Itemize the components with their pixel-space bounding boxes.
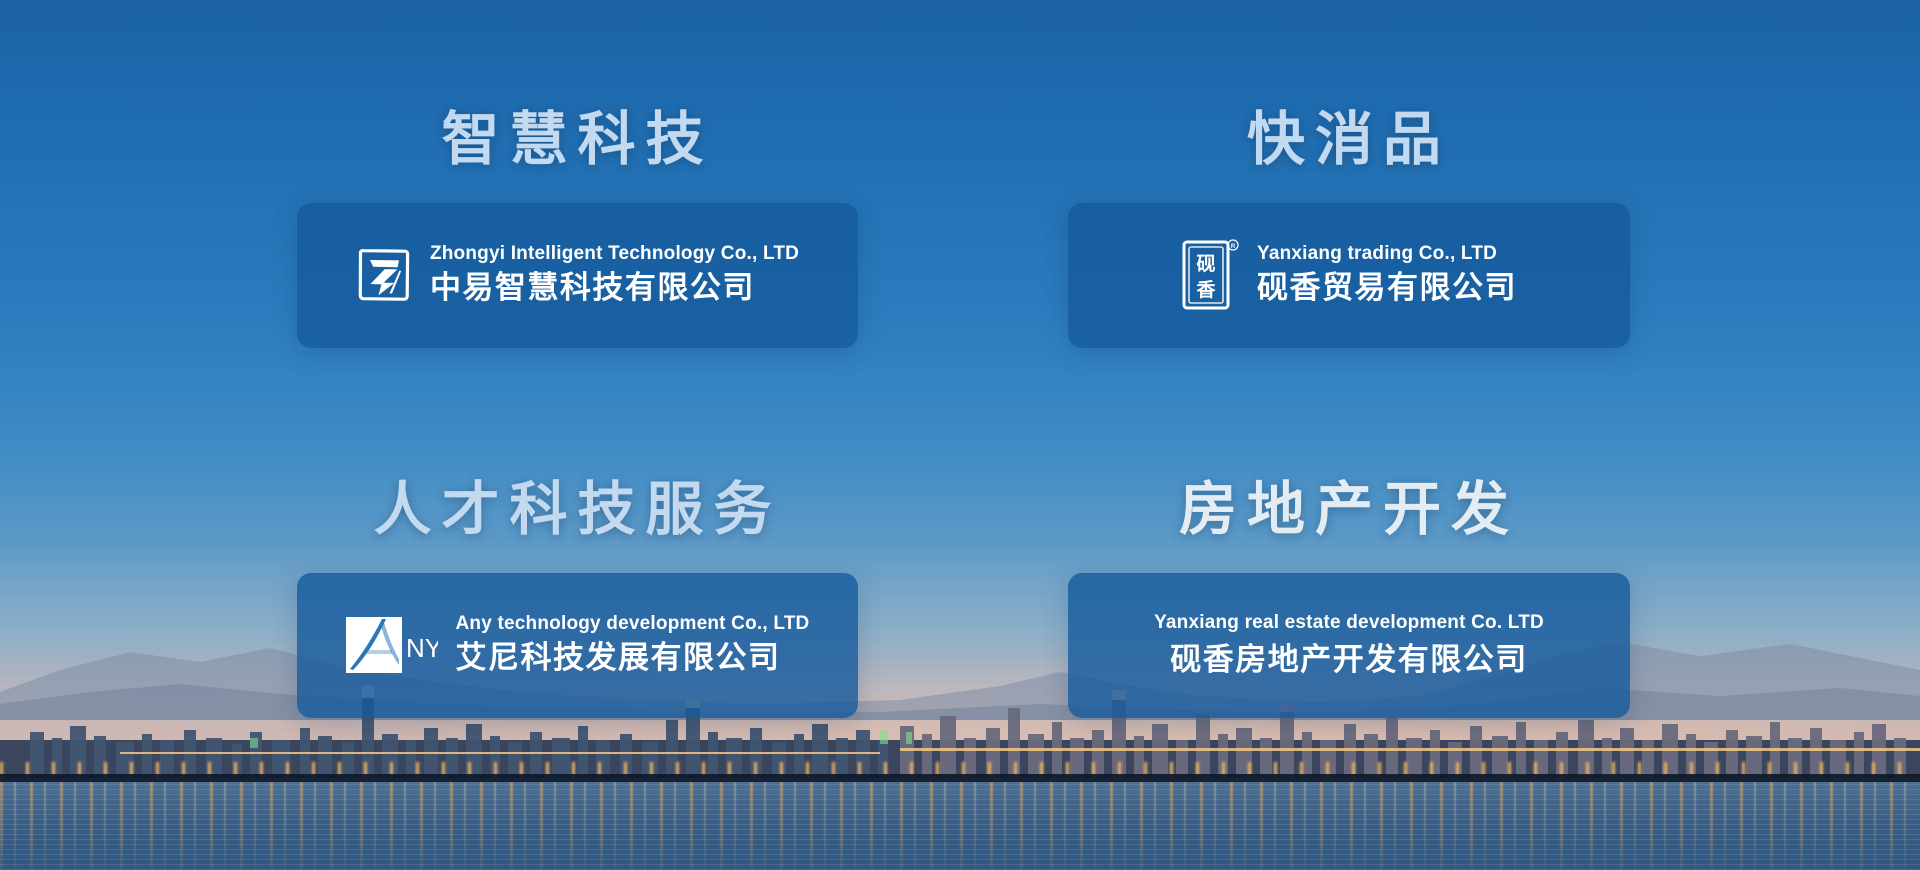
company-card-yanxiang-trading[interactable]: 砚 香 R Yanxiang trading Co., LTD 砚香贸易有限公司 [1068,203,1630,348]
svg-text:砚: 砚 [1196,253,1215,275]
any-logo-text: NY [406,633,438,663]
svg-text:R: R [1231,244,1236,250]
company-name-cn: 艾尼科技发展有限公司 [456,638,810,678]
company-card-zhongyi[interactable]: Zhongyi Intelligent Technology Co., LTD … [297,203,858,348]
yanxiang-seal-logo-icon: 砚 香 R [1181,238,1239,312]
company-name-en: Any technology development Co., LTD [456,612,810,636]
company-names-any: Any technology development Co., LTD 艾尼科技… [456,612,810,678]
company-name-cn: 砚香房地产开发有限公司 [1154,640,1544,680]
section-title-talent-tech-services: 人才科技服务 [297,480,858,541]
section-smart-technology: 智慧科技 Zhongyi Intelligent Technology Co.,… [297,110,858,348]
page-root: 智慧科技 Zhongyi Intelligent Technology Co.,… [0,0,1920,870]
sections-grid: 智慧科技 Zhongyi Intelligent Technology Co.,… [0,0,1920,870]
company-name-cn: 中易智慧科技有限公司 [430,268,799,308]
company-name-en: Yanxiang real estate development Co. LTD [1154,611,1544,635]
section-title-smart-technology: 智慧科技 [297,110,858,171]
section-title-real-estate: 房地产开发 [1068,480,1630,541]
company-name-en: Yanxiang trading Co., LTD [1257,242,1517,266]
company-names-zhongyi: Zhongyi Intelligent Technology Co., LTD … [430,242,799,308]
any-logo-icon: NY [346,617,438,673]
zhongyi-logo-icon [356,247,412,303]
company-card-yanxiang-real-estate[interactable]: Yanxiang real estate development Co. LTD… [1068,573,1630,718]
section-fmcg: 快消品 砚 香 R Yanxiang trading [1068,110,1630,348]
svg-text:香: 香 [1195,279,1216,301]
company-name-cn: 砚香贸易有限公司 [1257,268,1517,308]
section-talent-tech-services: 人才科技服务 NY Any technology development Co [297,480,858,718]
company-card-any[interactable]: NY Any technology development Co., LTD 艾… [297,573,858,718]
company-name-en: Zhongyi Intelligent Technology Co., LTD [430,242,799,266]
section-real-estate: 房地产开发 Yanxiang real estate development C… [1068,480,1630,718]
company-names-yanxiang-trading: Yanxiang trading Co., LTD 砚香贸易有限公司 [1257,242,1517,308]
company-names-yanxiang-real-estate: Yanxiang real estate development Co. LTD… [1154,611,1544,680]
section-title-fmcg: 快消品 [1068,110,1630,171]
